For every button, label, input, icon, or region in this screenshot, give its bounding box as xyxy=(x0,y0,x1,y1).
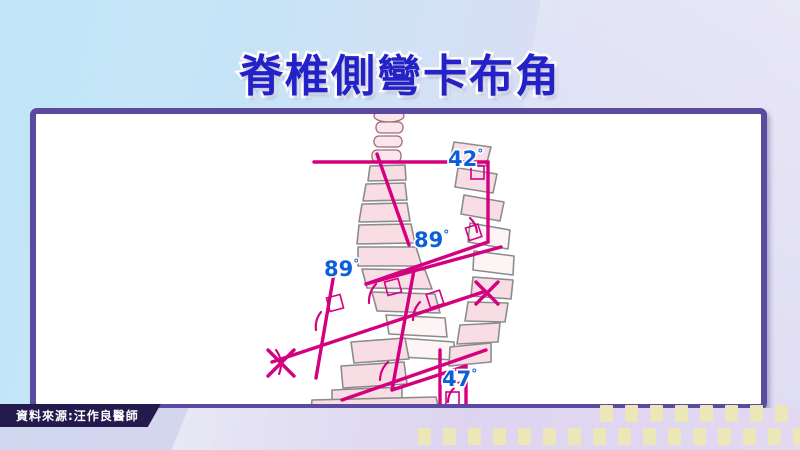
band-dot xyxy=(725,405,738,422)
band-dot xyxy=(443,428,456,445)
page-title: 脊椎側彎卡布角 xyxy=(0,40,800,104)
band-dot xyxy=(593,428,606,445)
band-dot xyxy=(793,428,800,445)
band-dot xyxy=(618,428,631,445)
illustration-panel: .vert { fill: #f9dde4; stroke: #8c8c8c; … xyxy=(30,108,767,410)
scoliosis-cobb-angle-diagram: .vert { fill: #f9dde4; stroke: #8c8c8c; … xyxy=(36,114,761,404)
band-dot xyxy=(650,405,663,422)
band-dot xyxy=(493,428,506,445)
slide-root: 脊椎側彎卡布角 .vert { fill: #f9dde4; stroke: #… xyxy=(0,0,800,450)
source-caption-banner: 資料來源:汪作良醫師 xyxy=(0,404,161,427)
band-dot xyxy=(768,428,781,445)
angle-label-upper: 42° xyxy=(448,147,483,171)
band-dot xyxy=(600,405,613,422)
band-dot xyxy=(625,405,638,422)
band-dot xyxy=(568,428,581,445)
band-dot xyxy=(775,405,788,422)
band-dot xyxy=(643,428,656,445)
source-caption-text: 資料來源:汪作良醫師 xyxy=(16,407,139,424)
band-dot xyxy=(468,428,481,445)
angle-label-middle-left: 89° xyxy=(324,257,359,281)
band-dot xyxy=(750,405,763,422)
angle-label-middle-right: 89° xyxy=(414,228,449,252)
band-dot xyxy=(718,428,731,445)
band-dot xyxy=(518,428,531,445)
band-dot xyxy=(693,428,706,445)
band-dot xyxy=(675,405,688,422)
band-dot-row-upper xyxy=(600,405,800,422)
thoracic-vertebrae-upper xyxy=(357,165,422,266)
band-dot xyxy=(543,428,556,445)
band-dot xyxy=(700,405,713,422)
angle-label-lower: 47° xyxy=(442,367,477,391)
band-dot xyxy=(743,428,756,445)
band-dot xyxy=(418,428,431,445)
band-dot xyxy=(668,428,681,445)
band-dot-row-lower xyxy=(418,428,800,445)
